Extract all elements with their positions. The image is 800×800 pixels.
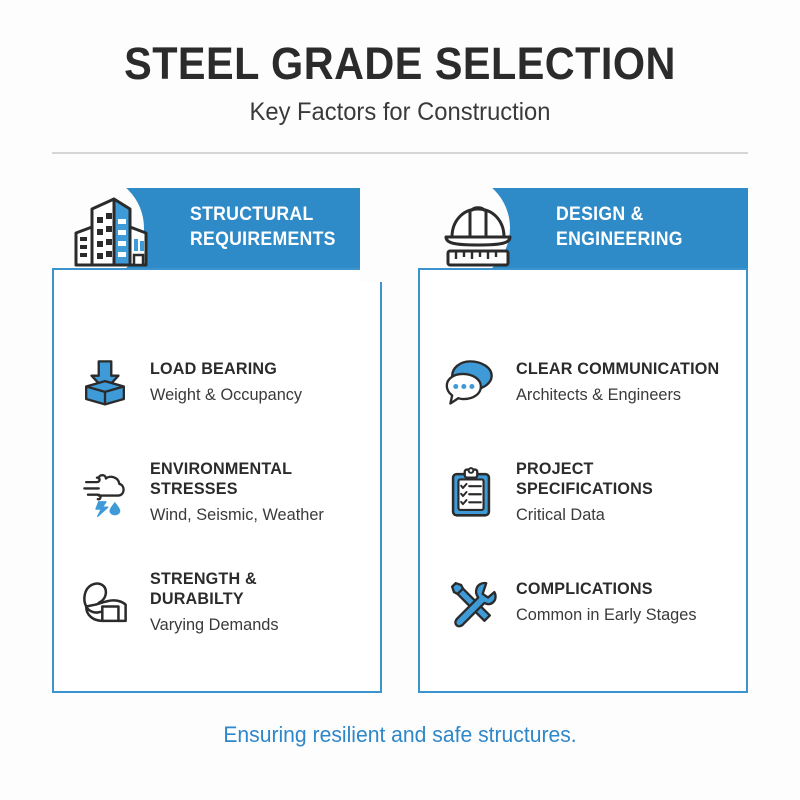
card-header-title-line2: ENGINEERING: [556, 227, 728, 252]
feature-title: PROJECT SPECIFICATIONS: [516, 459, 721, 500]
speech-bubbles-icon: [442, 353, 500, 411]
feature-subtitle: Common in Early Stages: [516, 605, 723, 625]
clipboard-checklist-icon: [442, 463, 500, 521]
feature-text: CLEAR COMMUNICATION Architects & Enginee…: [516, 359, 732, 405]
card-design-engineering: DESIGN & ENGINEERING CLEAR COMMUNIC: [418, 188, 748, 693]
load-bearing-box-arrow-icon: [76, 353, 134, 411]
card-header-title-line1: DESIGN &: [556, 202, 728, 227]
feature-subtitle: Varying Demands: [150, 615, 357, 635]
footer-tagline: Ensuring resilient and safe structures.: [16, 722, 784, 748]
feature-text: ENVIRONMENTAL STRESSES Wind, Seismic, We…: [150, 459, 366, 525]
page-subtitle: Key Factors for Construction: [20, 98, 780, 127]
card-header-title: STRUCTURAL REQUIREMENTS: [190, 202, 362, 253]
feature-text: STRENGTH & DURABILTY Varying Demands: [150, 569, 366, 635]
feature-title: STRENGTH & DURABILTY: [150, 569, 355, 610]
feature-title: ENVIRONMENTAL STRESSES: [150, 459, 355, 500]
card-header-title: DESIGN & ENGINEERING: [556, 202, 728, 253]
feature-title: CLEAR COMMUNICATION: [516, 359, 721, 379]
feature-title: COMPLICATIONS: [516, 579, 721, 599]
feature-subtitle: Weight & Occupancy: [150, 385, 357, 405]
feature-subtitle: Critical Data: [516, 505, 723, 525]
card-structural-requirements: STRUCTURAL REQUIREMENTS LOAD BEARING W: [52, 188, 382, 693]
feature-text: LOAD BEARING Weight & Occupancy: [150, 359, 366, 405]
feature-subtitle: Architects & Engineers: [516, 385, 723, 405]
feature-environmental-stresses[interactable]: ENVIRONMENTAL STRESSES Wind, Seismic, We…: [76, 456, 366, 528]
feature-strength-durability[interactable]: STRENGTH & DURABILTY Varying Demands: [76, 566, 366, 638]
flexed-bicep-muscle-icon: [76, 573, 134, 631]
header: STEEL GRADE SELECTION Key Factors for Co…: [0, 40, 800, 127]
hard-hat-ruler-icon: [436, 193, 522, 269]
header-divider: [52, 152, 748, 154]
card-body-structural: LOAD BEARING Weight & Occupancy: [52, 268, 382, 693]
feature-text: PROJECT SPECIFICATIONS Critical Data: [516, 459, 732, 525]
card-header-title-line1: STRUCTURAL: [190, 202, 362, 227]
office-buildings-icon: [70, 193, 156, 269]
feature-clear-communication[interactable]: CLEAR COMMUNICATION Architects & Enginee…: [442, 346, 732, 418]
card-header-design: DESIGN & ENGINEERING: [418, 188, 748, 268]
infographic-page: STEEL GRADE SELECTION Key Factors for Co…: [0, 0, 800, 800]
feature-load-bearing[interactable]: LOAD BEARING Weight & Occupancy: [76, 346, 366, 418]
page-title: STEEL GRADE SELECTION: [32, 40, 768, 87]
feature-text: COMPLICATIONS Common in Early Stages: [516, 579, 732, 625]
feature-subtitle: Wind, Seismic, Weather: [150, 505, 357, 525]
wrench-screwdriver-icon: [442, 573, 500, 631]
card-header-structural: STRUCTURAL REQUIREMENTS: [52, 188, 382, 268]
feature-complications[interactable]: COMPLICATIONS Common in Early Stages: [442, 566, 732, 638]
card-body-design: CLEAR COMMUNICATION Architects & Enginee…: [418, 268, 748, 693]
feature-title: LOAD BEARING: [150, 359, 355, 379]
feature-project-specifications[interactable]: PROJECT SPECIFICATIONS Critical Data: [442, 456, 732, 528]
wind-cloud-storm-icon: [76, 463, 134, 521]
card-header-title-line2: REQUIREMENTS: [190, 227, 362, 252]
